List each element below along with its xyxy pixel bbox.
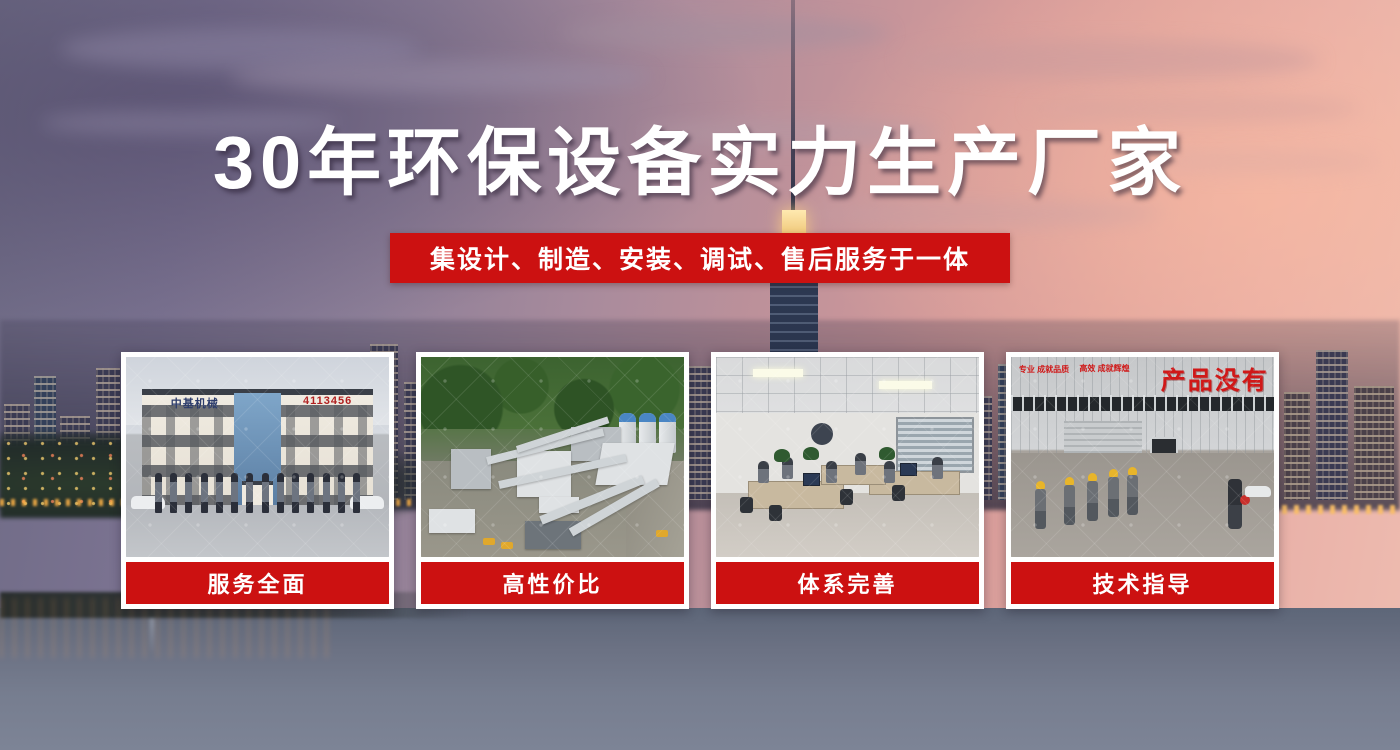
card-caption-label: 技术指导 [1092,567,1192,599]
office-worker [826,461,837,483]
excavator [501,542,513,549]
potted-plant [879,447,895,460]
card-caption-bar: 高性价比 [421,562,684,604]
page-title: 30年环保设备实力生产厂家 [0,126,1400,200]
building [1354,386,1394,500]
feature-card-training[interactable]: 产品没有 专业 成就品质 高效 成就辉煌 [1006,352,1279,609]
card-caption-bar: 技术指导 [1011,562,1274,604]
feature-card-list: 中基机械 4113456 服务全面 [121,352,1279,609]
plant-structure [451,449,491,489]
worker [1087,481,1098,521]
potted-plant [774,449,790,462]
supervisor [1228,479,1242,529]
card-photo-worker-briefing: 产品没有 专业 成就品质 高效 成就辉煌 [1011,357,1274,557]
card-caption-label: 体系完善 [797,567,897,599]
cloud [1030,95,1360,123]
card-caption-bar: 体系完善 [716,562,979,604]
ceiling-light [879,381,932,389]
building [1284,392,1310,500]
worker [1108,477,1119,517]
feature-card-value[interactable]: 高性价比 [416,352,689,609]
wall-railing [1011,395,1274,411]
parked-car [1245,486,1271,497]
wall-big-slogan: 产品没有 [1161,361,1269,397]
office-chair [840,489,853,505]
wall-small-slogan: 高效 成就辉煌 [1079,364,1129,373]
office-worker [932,457,943,479]
excavator [483,538,495,545]
card-photo-plant-aerial [421,357,684,557]
worker [1127,475,1138,515]
office-ceiling [716,357,979,413]
card-photo-office-interior [716,357,979,557]
ceiling-light [753,369,803,377]
card-caption-bar: 服务全面 [126,562,389,604]
factory-wall-slogans: 产品没有 专业 成就品质 高效 成就辉煌 [1011,361,1274,393]
card-photo-office-building: 中基机械 4113456 [126,357,389,557]
office-worker [884,461,895,483]
excavator [656,530,668,537]
staff-lineup [155,473,360,513]
wall-logo-decal [811,423,833,445]
cloud [560,18,890,48]
card-caption-label: 高性价比 [502,567,602,599]
office-chair [769,505,782,521]
office-worker [758,461,769,483]
subtitle-text: 集设计、制造、安装、调试、售后服务于一体 [430,240,970,276]
building-sign-text: 中基机械 [171,395,219,411]
building [1316,350,1348,500]
subtitle-banner: 集设计、制造、安装、调试、售后服务于一体 [390,233,1010,283]
building-phone-text: 4113456 [303,395,352,407]
computer-monitor [900,463,917,476]
computer-monitor [803,473,820,486]
worker [1035,489,1046,529]
feature-card-service[interactable]: 中基机械 4113456 服务全面 [121,352,394,609]
cloud [230,60,650,94]
potted-plant [803,447,819,460]
wall-small-slogan: 专业 成就品质 [1019,365,1069,374]
office-chair [740,497,753,513]
office-chair [892,485,905,501]
office-desk [748,481,845,509]
office-worker [855,453,866,475]
plant-office [429,509,475,533]
card-caption-label: 服务全面 [207,567,307,599]
worker [1064,485,1075,525]
hero-banner: 30年环保设备实力生产厂家 集设计、制造、安装、调试、售后服务于一体 中基机械 … [0,0,1400,750]
cloud [900,40,1320,80]
cloud [780,200,1160,228]
feature-card-system[interactable]: 体系完善 [711,352,984,609]
